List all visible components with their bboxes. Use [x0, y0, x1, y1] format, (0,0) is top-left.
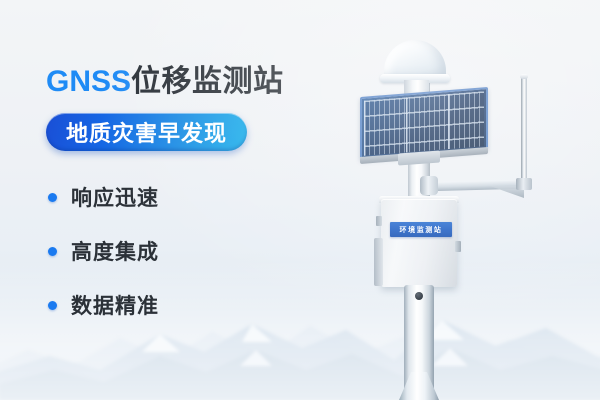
list-item: 高度集成: [48, 232, 159, 270]
tagline-badge-text: 地质灾害早发现: [66, 116, 227, 148]
feature-label: 高度集成: [71, 236, 159, 266]
solar-panel-mount: [398, 151, 440, 166]
whip-antenna-mount: [516, 178, 532, 190]
cabinet: [381, 199, 457, 287]
cabinet-name-plate: 环境监测站: [390, 222, 452, 237]
list-item: 数据精准: [48, 286, 159, 324]
cabinet-hinge-left: [376, 216, 382, 226]
cabinet-side-panel: [374, 238, 383, 286]
solar-panel-cells: [364, 91, 484, 155]
banner-image: 环境监测站 GNSS位移监测站 地质灾害早发现 响应迅速 高度集成 数据精准: [0, 0, 600, 400]
title-rest: 位移监测站: [131, 65, 284, 98]
feature-label: 响应迅速: [71, 182, 159, 212]
tagline-badge: 地质灾害早发现: [46, 113, 247, 151]
whip-antenna-icon: [521, 76, 527, 188]
feature-label: 数据精准: [71, 290, 159, 320]
bullet-dot-icon: [48, 193, 57, 202]
list-item: 响应迅速: [48, 178, 159, 216]
bullet-dot-icon: [48, 247, 57, 256]
support-arm-hub: [420, 176, 438, 195]
feature-list: 响应迅速 高度集成 数据精准: [48, 178, 159, 340]
cabinet-latch-right: [455, 241, 461, 252]
whip-antenna-cap: [520, 74, 528, 79]
bullet-dot-icon: [48, 301, 57, 310]
title-gnss: GNSS: [46, 65, 131, 98]
cabinet-name-plate-text: 环境监测站: [400, 225, 443, 235]
page-title: GNSS位移监测站: [46, 56, 284, 100]
mast-bolt: [415, 292, 423, 300]
